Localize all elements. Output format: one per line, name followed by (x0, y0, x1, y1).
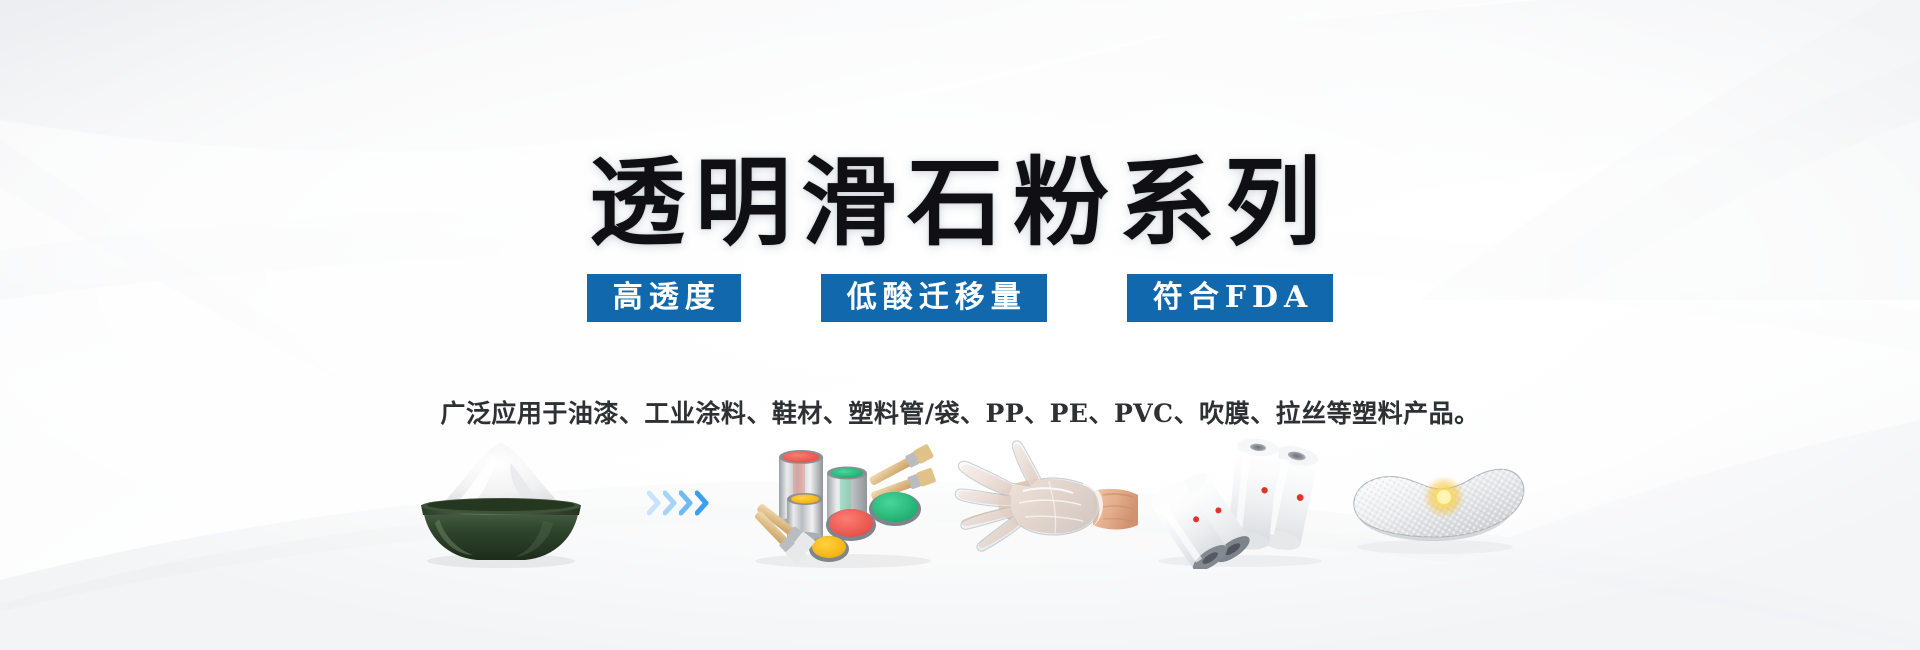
feature-badge-low-acid-migration[interactable]: 低酸迁移量 (821, 274, 1047, 322)
chevron-arrows-right (618, 433, 738, 573)
page-title: 透明滑石粉系列 (0, 150, 1920, 256)
product-banner: 透明滑石粉系列 高透度 低酸迁移量 符合FDA 广泛应用于油漆、工业涂料、鞋材、… (0, 0, 1920, 650)
application-image-strip (0, 428, 1920, 578)
page-subtitle: 广泛应用于油漆、工业涂料、鞋材、塑料管/袋、PP、PE、PVC、吹膜、拉丝等塑料… (0, 397, 1920, 431)
plastic-film-rolls-image (1143, 433, 1338, 573)
plastic-glove-hand-image (948, 433, 1143, 573)
shoe-sole-image (1338, 433, 1533, 573)
talc-powder-bowl-image (388, 433, 618, 573)
paint-cans-image (738, 433, 948, 573)
chevron-right-icon (663, 490, 677, 516)
feature-badge-high-transparency[interactable]: 高透度 (587, 274, 741, 322)
feature-badge-list: 高透度 低酸迁移量 符合FDA (0, 274, 1920, 322)
feature-badge-fda-compliant[interactable]: 符合FDA (1127, 274, 1334, 322)
chevron-right-icon (695, 490, 709, 516)
chevron-right-icon (647, 490, 661, 516)
chevron-right-icon (679, 490, 693, 516)
